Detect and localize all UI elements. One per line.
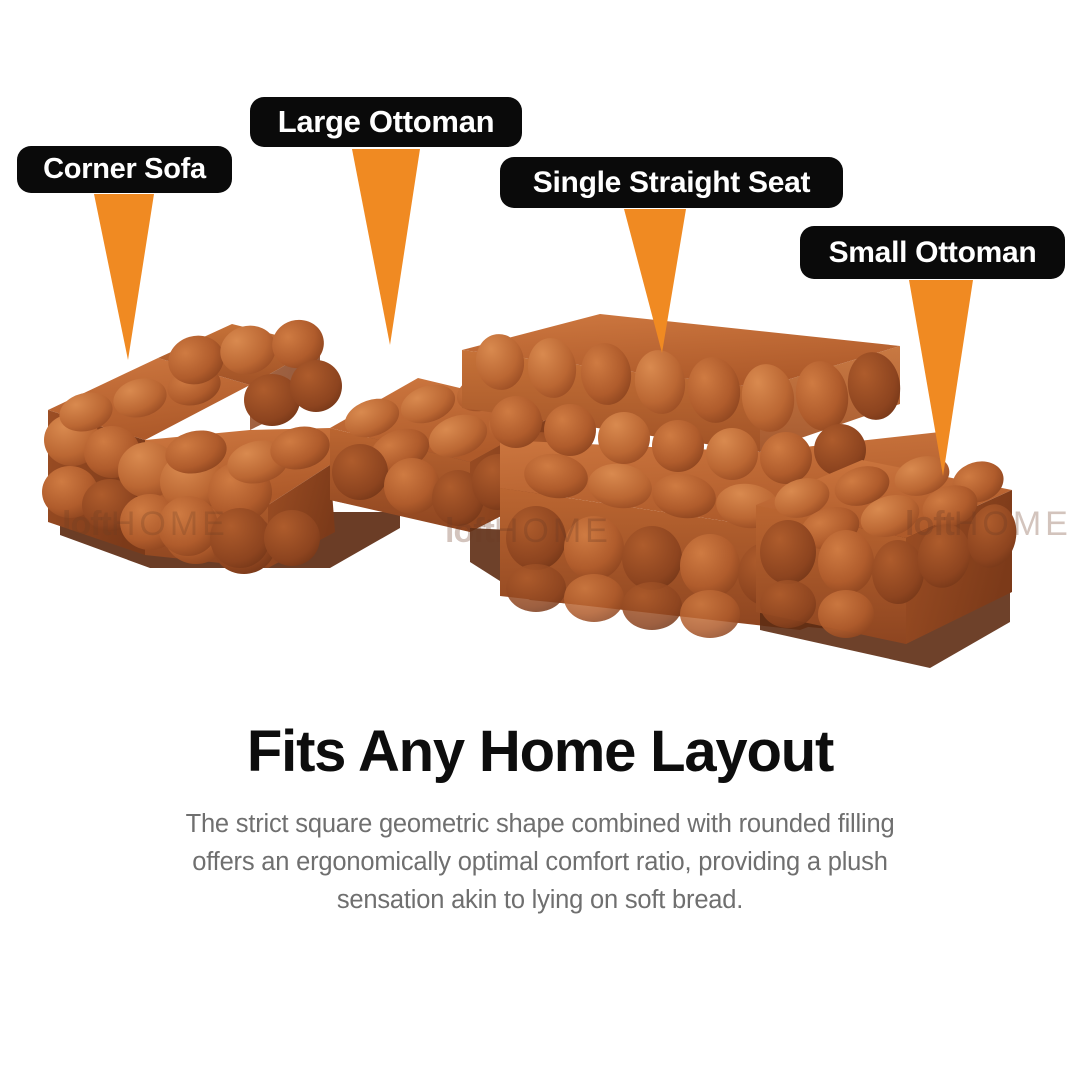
callout-label-single-straight-seat: Single Straight Seat: [500, 157, 843, 208]
pointer-triangle-single-straight-seat: [620, 207, 692, 355]
callout-label-text: Single Straight Seat: [533, 166, 810, 200]
callout-label-large-ottoman: Large Ottoman: [250, 97, 522, 147]
pointer-triangle-small-ottoman: [905, 278, 979, 478]
headline: Fits Any Home Layout: [0, 718, 1080, 785]
callout-label-corner-sofa: Corner Sofa: [17, 146, 232, 193]
pointer-triangle-large-ottoman: [348, 147, 426, 347]
module-small-ottoman: [756, 450, 1022, 668]
callout-label-text: Small Ottoman: [829, 236, 1037, 270]
pointer-triangle-corner-sofa: [88, 192, 160, 362]
callout-label-text: Large Ottoman: [278, 104, 495, 140]
callout-label-small-ottoman: Small Ottoman: [800, 226, 1065, 279]
subcopy-paragraph: The strict square geometric shape combin…: [170, 805, 910, 919]
callout-label-text: Corner Sofa: [43, 153, 206, 186]
image-canvas: loftHOME loftHOME loftHOME loftHOME loft…: [0, 0, 1080, 1080]
